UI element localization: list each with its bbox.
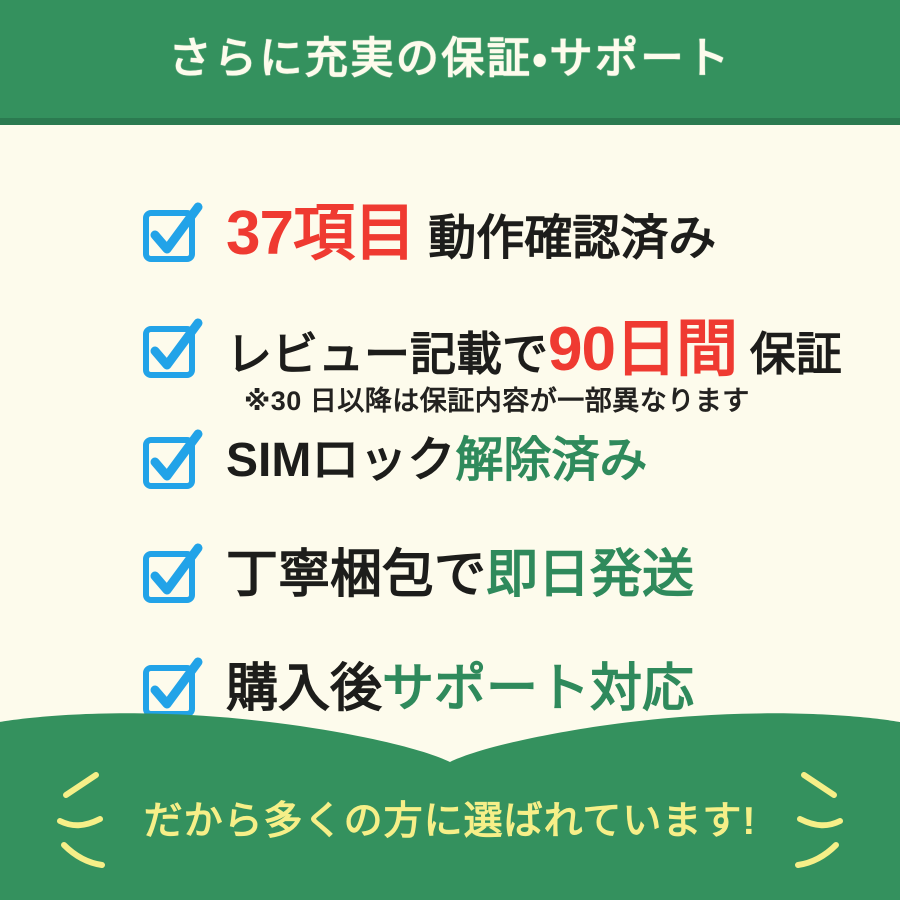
- list-item: 37項目 動作確認済み: [0, 202, 900, 266]
- footer-message: だから多くの方に選ばれています!: [144, 802, 757, 841]
- footer-ribbon: だから多くの方に選ばれています!: [0, 700, 900, 900]
- text-fragment: SIMロック: [226, 434, 455, 487]
- list-item: SIMロック解除済み: [0, 429, 900, 493]
- header-banner: さらに充実の保証・サポート: [0, 0, 900, 118]
- checkbox-checked-icon: [142, 432, 200, 490]
- text-fragment: 90日間: [548, 315, 737, 384]
- checkbox-checked-icon: [142, 205, 200, 263]
- text-fragment: 動作確認済み: [415, 212, 716, 265]
- promo-poster: さらに充実の保証・サポート 37項目 動作確認済み: [0, 0, 900, 900]
- checkbox-checked-icon: [142, 546, 200, 604]
- list-item-label: SIMロック解除済み: [226, 437, 647, 485]
- list-item-label: レビュー記載で90日間 保証: [226, 319, 842, 381]
- warranty-note: ※30 日以降は保証内容が一部異なります: [0, 388, 900, 415]
- list-item: レビュー記載で90日間 保証: [0, 318, 900, 382]
- page-title: さらに充実の保証・サポート: [168, 38, 731, 81]
- text-fragment: 37項目: [226, 199, 415, 268]
- feature-list: 37項目 動作確認済み レビュー記載で90日間 保証 ※30 日以降は保証内容が…: [0, 125, 900, 725]
- list-item-label: 丁寧梱包で即日発送: [226, 549, 694, 601]
- header-divider: [0, 118, 900, 125]
- list-item: 丁寧梱包で即日発送: [0, 543, 900, 607]
- text-fragment: 解除済み: [455, 434, 647, 487]
- tick-marks-icon: [40, 769, 118, 873]
- text-fragment: レビュー記載で: [226, 328, 548, 380]
- text-fragment: 保証: [737, 328, 842, 380]
- list-item-label: 37項目 動作確認済み: [226, 203, 716, 265]
- text-fragment: 丁寧梱包で: [226, 546, 486, 604]
- tick-marks-icon: [782, 769, 860, 873]
- text-fragment: 即日発送: [486, 546, 694, 604]
- checkbox-checked-icon: [142, 321, 200, 379]
